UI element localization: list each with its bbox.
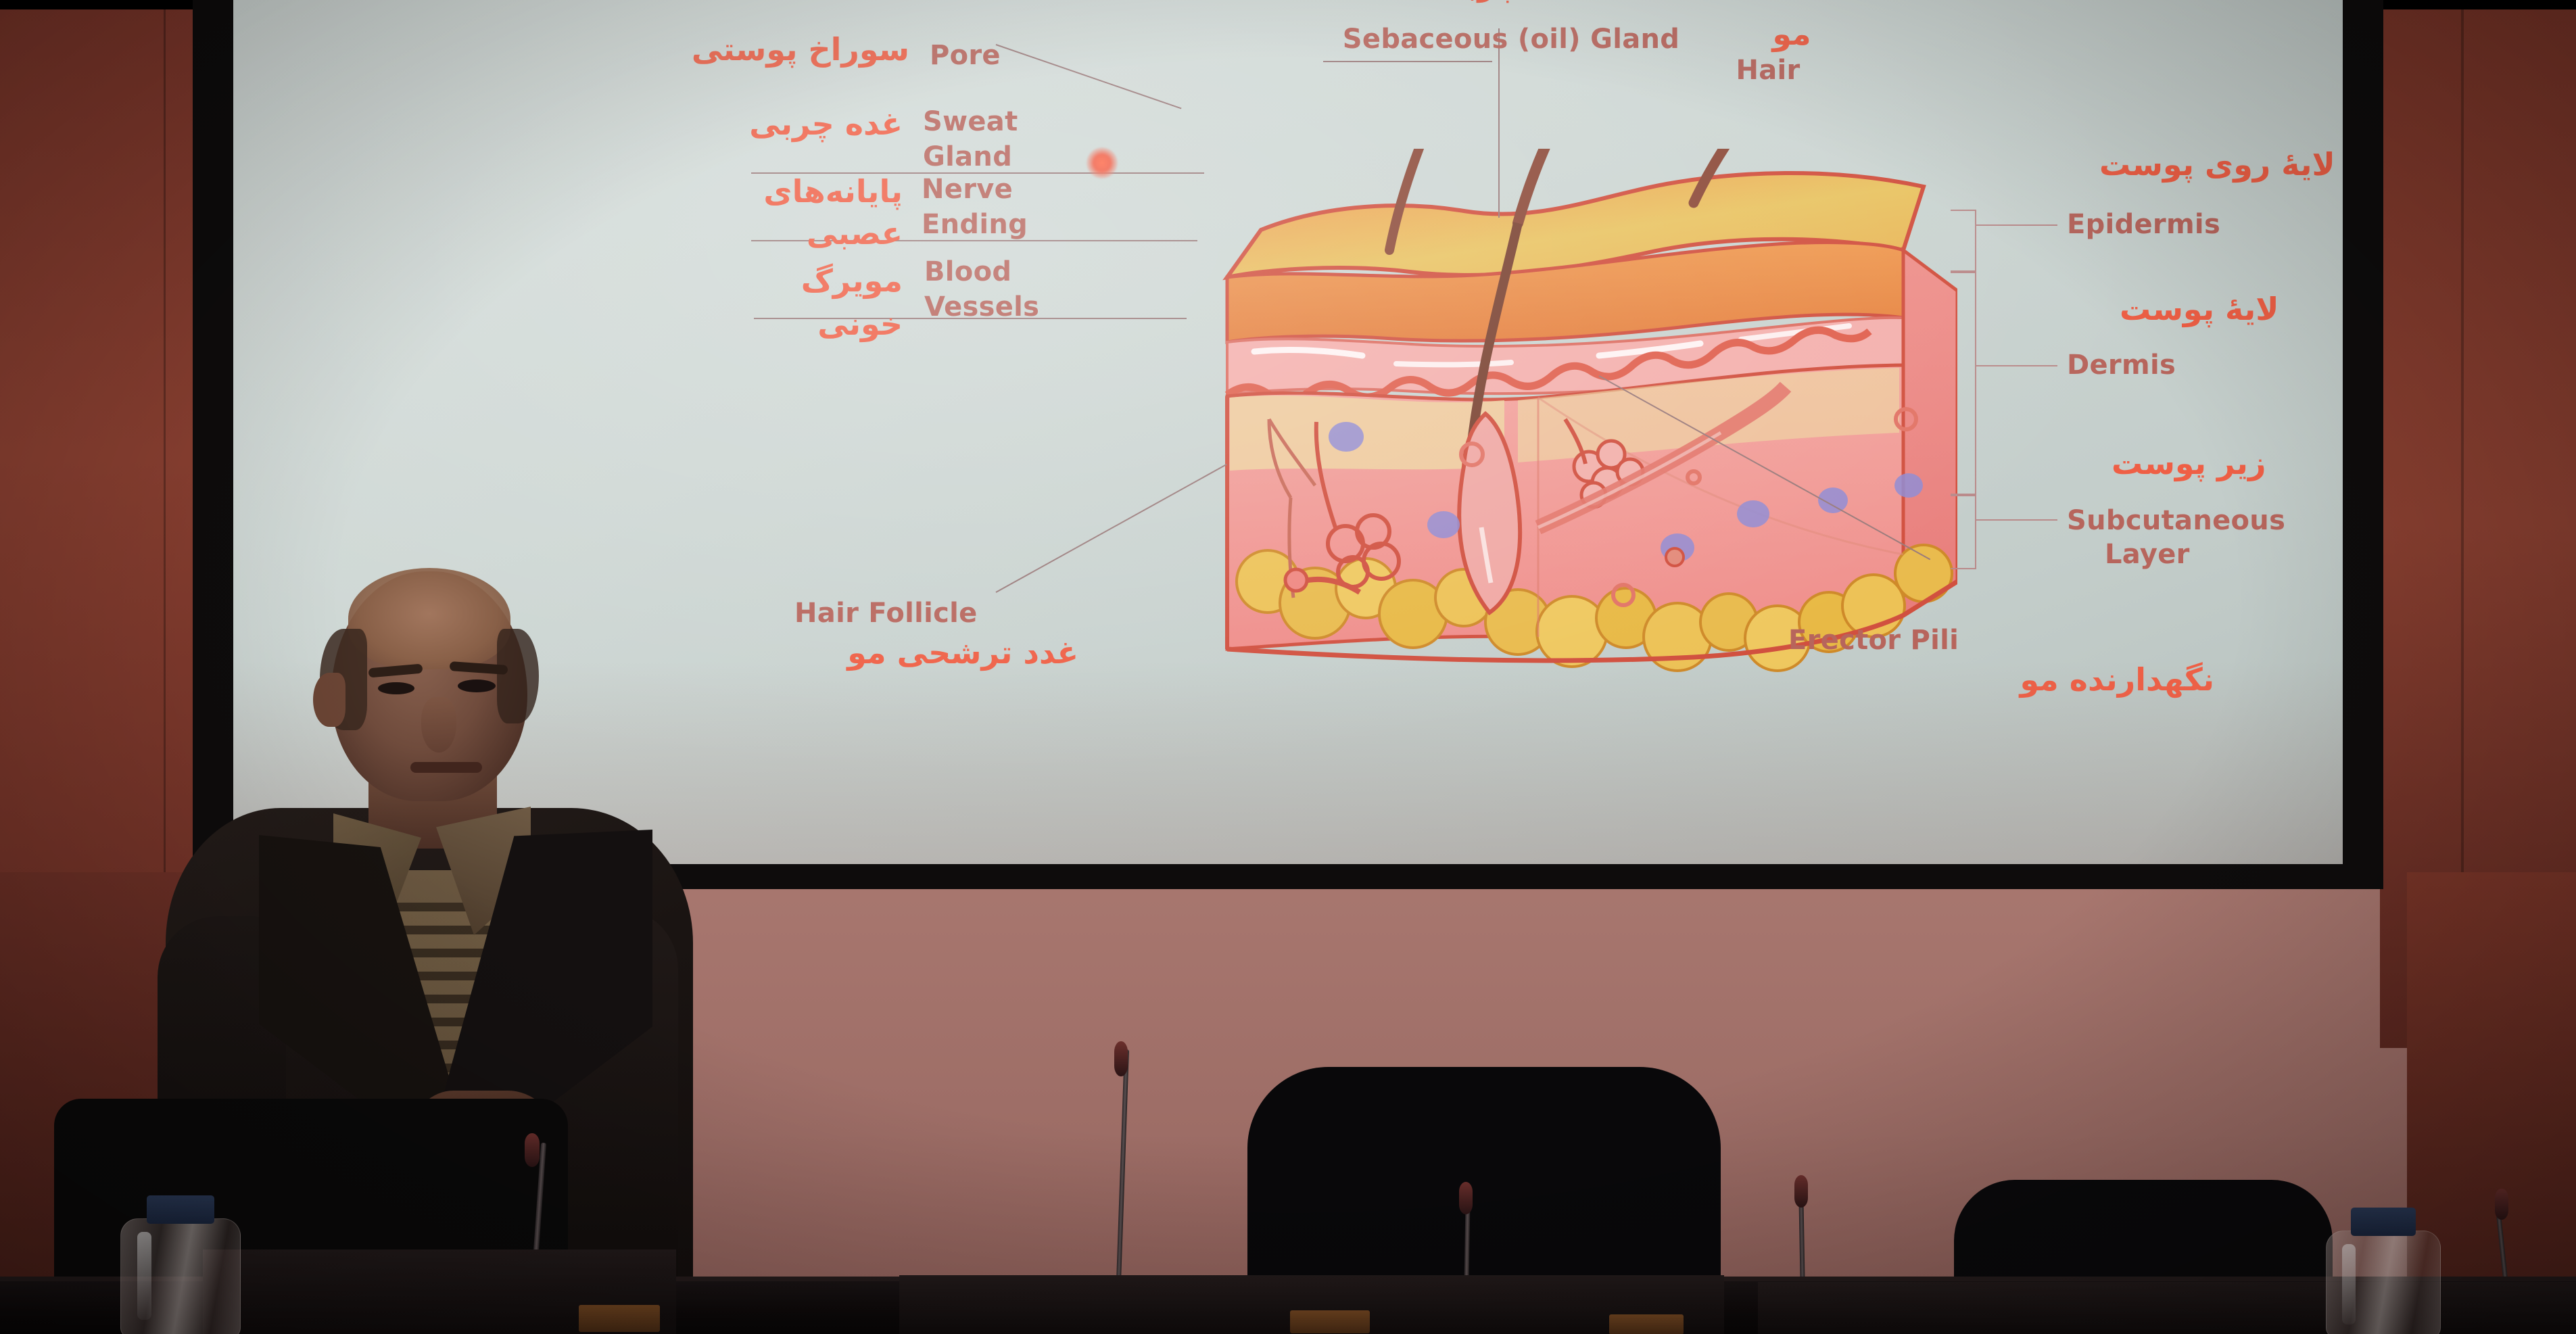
presenter-forehead <box>348 568 510 669</box>
label-nerve-ending-english-1: Nerve <box>922 174 1013 205</box>
bottle-cap <box>2351 1208 2415 1236</box>
label-nerve-ending-persian-1: پایانه‌های <box>551 174 903 210</box>
label-hair-follicle-persian: غدد ترشحی مو <box>673 636 1078 671</box>
label-epidermis-english: Epidermis <box>2067 210 2220 240</box>
label-sebaceous-gland-persian: غده چربی <box>1369 0 1653 3</box>
label-epidermis-persian: لایهٔ روی پوست <box>2099 147 2335 183</box>
presenter-nose <box>421 697 456 753</box>
layer-bracket-subcutaneous <box>1951 495 1976 569</box>
microphone-4-head <box>2495 1189 2508 1220</box>
microphone-3-head <box>1794 1175 1808 1208</box>
label-nerve-ending-persian-2: عصبی <box>551 216 903 252</box>
label-subcutaneous-english-1: Subcutaneous <box>2067 506 2285 536</box>
label-blood-vessels-english-2: Vessels <box>924 292 1039 323</box>
name-plate-center <box>1290 1310 1370 1333</box>
leader-dermis <box>1976 365 2057 366</box>
laser-pointer-dot <box>1087 147 1118 178</box>
leader-epidermis <box>1976 224 2057 226</box>
leader-hair <box>1323 61 1492 62</box>
label-sebaceous-gland-english: Sebaceous (oil) Gland <box>1315 24 1707 55</box>
layer-bracket-dermis <box>1951 272 1976 495</box>
label-subcutaneous-english-2: Layer <box>2105 540 2190 570</box>
microphone-2-head <box>1459 1182 1473 1214</box>
presenter-eye-left <box>378 682 414 694</box>
label-hair-persian: مو <box>1744 17 1839 52</box>
skin-cross-section-diagram <box>1220 149 1957 683</box>
presenter-hair-right <box>497 629 539 723</box>
label-pore-english: Pore <box>930 41 1001 71</box>
label-dermis-persian: لایهٔ پوست <box>2120 292 2279 327</box>
label-erector-pili-persian: نگهدارنده مو <box>1721 663 2214 698</box>
presenter-eye-right <box>458 680 496 692</box>
label-sweat-gland-persian: غده چربی <box>585 107 903 142</box>
bottle-highlight <box>2342 1244 2356 1325</box>
microphone-5-head <box>525 1133 540 1167</box>
label-dermis-english: Dermis <box>2067 350 2176 381</box>
presenter-ear <box>313 673 345 727</box>
layer-bracket-epidermis <box>1951 210 1976 272</box>
leader-sebaceous <box>1498 28 1500 218</box>
label-pore-persian: سوراخ پوستی <box>612 32 909 68</box>
label-blood-vessels-persian-2: خونی <box>558 307 903 342</box>
photo-scene: غده چربی Sebaceous (oil) Gland مو Hair س… <box>0 0 2576 1334</box>
label-sweat-gland-english-2: Gland <box>923 142 1012 172</box>
label-blood-vessels-persian-1: مویرگ <box>558 264 903 299</box>
water-bottle-right <box>2326 1208 2441 1334</box>
label-sweat-gland-english-1: Sweat <box>923 107 1018 137</box>
leader-pore <box>996 44 1182 109</box>
skin-block-svg <box>1220 149 1957 683</box>
presenter-mouth <box>410 762 482 773</box>
water-bottle-left <box>120 1195 241 1334</box>
label-hair-english: Hair <box>1700 55 1836 86</box>
label-hair-follicle-english: Hair Follicle <box>794 598 978 629</box>
label-subcutaneous-persian: زیر پوست <box>2112 446 2266 481</box>
bottle-cap <box>147 1195 214 1224</box>
name-plate-right <box>1609 1314 1684 1334</box>
microphone-1-head <box>1114 1041 1128 1076</box>
desk-panel-right <box>1758 1282 2576 1334</box>
bottle-highlight <box>137 1232 151 1320</box>
name-plate-left <box>579 1305 660 1332</box>
label-nerve-ending-english-2: Ending <box>922 210 1028 240</box>
label-blood-vessels-english-1: Blood <box>924 257 1011 287</box>
leader-hair-follicle <box>996 464 1227 593</box>
label-erector-pili-english: Erector Pili <box>1788 625 1959 656</box>
leader-subcutaneous <box>1976 519 2057 521</box>
